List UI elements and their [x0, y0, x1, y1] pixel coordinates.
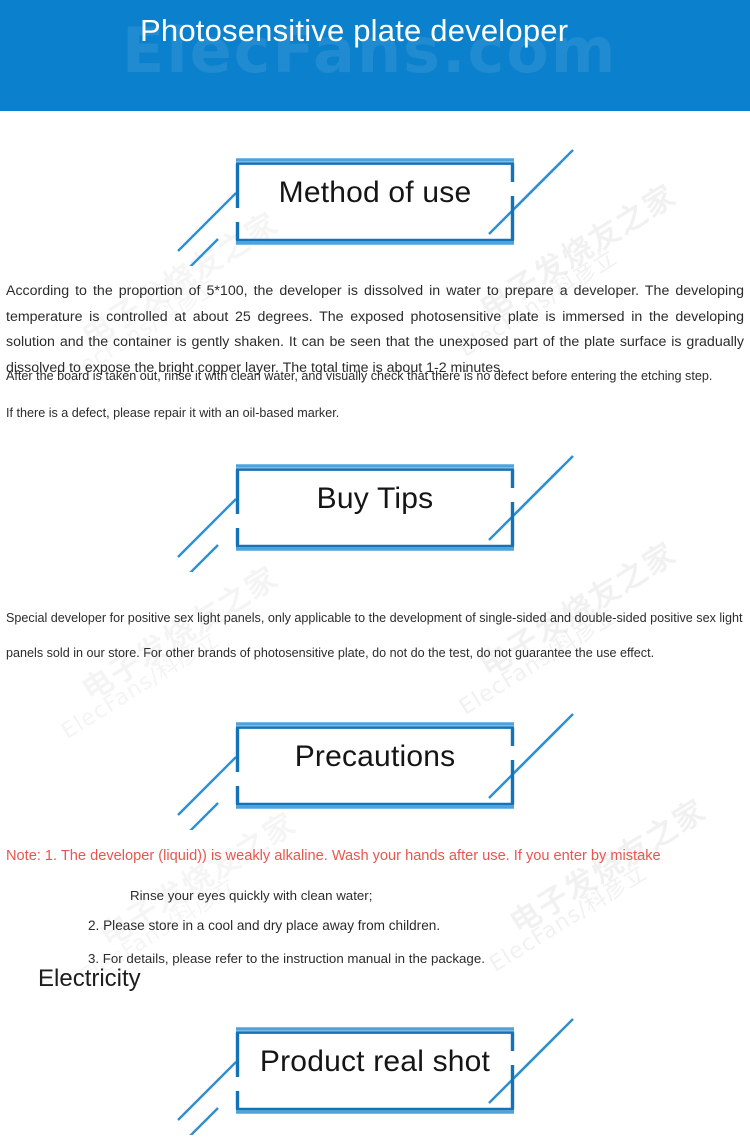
paragraph-method-main: According to the proportion of 5*100, th…	[6, 279, 744, 381]
page-title: Photosensitive plate developer	[140, 8, 700, 53]
section-heading-label: Method of use	[0, 170, 750, 216]
paragraph-buy-tips: Special developer for positive sex light…	[6, 601, 746, 671]
section-heading-label: Buy Tips	[0, 476, 750, 522]
electricity-label: Electricity	[38, 964, 141, 994]
precaution-item-3: 3. For details, please refer to the inst…	[88, 949, 708, 969]
paragraph-method-rinse: After the board is taken out, rinse it w…	[6, 368, 734, 384]
paragraph-method-defect: If there is a defect, please repair it w…	[6, 405, 734, 421]
section-header-product-real-shot: Product real shot	[0, 999, 750, 1135]
section-header-buy-tips: Buy Tips	[0, 436, 750, 572]
section-header-precautions: Precautions	[0, 694, 750, 830]
page-banner: ElecFans.com Photosensitive plate develo…	[0, 0, 750, 111]
precaution-note: Note: 1. The developer (liquid)) is weak…	[6, 845, 726, 867]
product-detail-page: 电子发烧友之家 ElecFans/科彦立 电子发烧友之家 ElecFans/科彦…	[0, 0, 750, 1146]
section-heading-label: Product real shot	[0, 1039, 750, 1085]
precaution-item-1: Rinse your eyes quickly with clean water…	[130, 886, 730, 906]
section-heading-label: Precautions	[0, 734, 750, 780]
section-header-method-of-use: Method of use	[0, 130, 750, 266]
precaution-item-2: 2. Please store in a cool and dry place …	[88, 916, 708, 936]
